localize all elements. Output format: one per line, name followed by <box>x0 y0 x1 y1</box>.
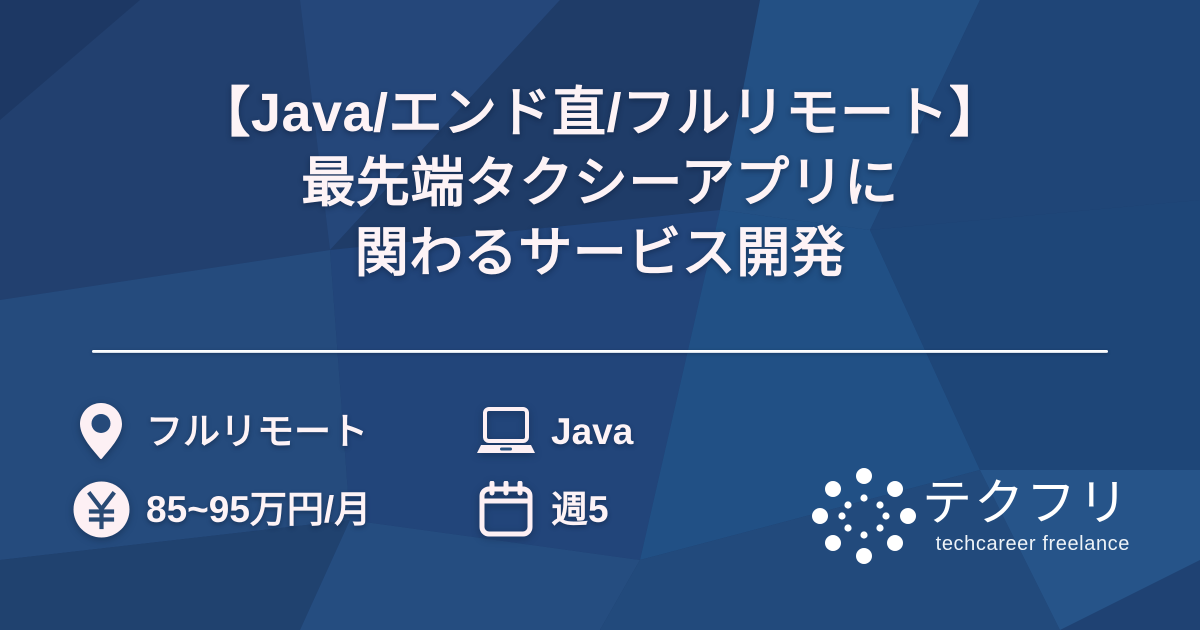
job-title: 【Java/エンド直/フルリモート】 最先端タクシーアプリに 関わるサービス開発 <box>0 78 1200 288</box>
attribute-row: フルリモート Java <box>72 392 807 470</box>
map-pin-icon <box>72 402 130 460</box>
title-line-3: 関わるサービス開発 <box>0 218 1200 288</box>
attribute-location-label: フルリモート <box>146 413 368 450</box>
job-card: 【Java/エンド直/フルリモート】 最先端タクシーアプリに 関わるサービス開発… <box>0 0 1200 630</box>
attribute-row: 85~95万円/月 週5 <box>72 470 807 548</box>
attribute-workdays: 週5 <box>477 480 807 538</box>
calendar-icon <box>477 480 535 538</box>
attribute-salary-label: 85~95万円/月 <box>146 491 371 528</box>
brand-logo-text: テクフリ techcareer freelance <box>922 476 1130 556</box>
attribute-skill: Java <box>477 402 807 460</box>
laptop-icon <box>477 402 535 460</box>
brand-name-en: techcareer freelance <box>922 532 1130 556</box>
attribute-skill-label: Java <box>551 413 633 450</box>
job-attributes: フルリモート Java <box>72 392 807 548</box>
attribute-salary: 85~95万円/月 <box>72 480 477 538</box>
divider <box>92 350 1108 353</box>
title-line-2: 最先端タクシーアプリに <box>0 148 1200 218</box>
brand-name-jp: テクフリ <box>922 476 1130 530</box>
attribute-location: フルリモート <box>72 402 477 460</box>
dot-cluster-icon <box>812 468 916 564</box>
title-line-1: 【Java/エンド直/フルリモート】 <box>0 78 1200 148</box>
attribute-workdays-label: 週5 <box>551 491 609 528</box>
yen-circle-icon <box>72 480 130 538</box>
brand-logo: テクフリ techcareer freelance <box>812 466 1142 566</box>
